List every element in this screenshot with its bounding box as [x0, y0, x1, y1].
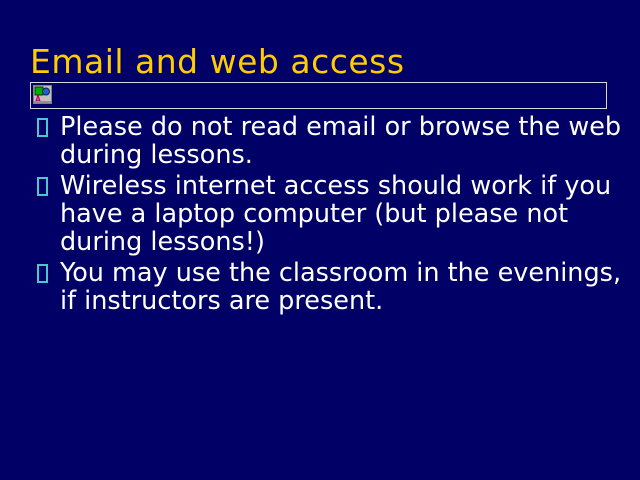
bullet-marker-icon	[37, 118, 48, 137]
list-item-label: You may use the classroom in the evening…	[60, 259, 630, 315]
list-item-label: Please do not read email or browse the w…	[60, 113, 630, 169]
presentation-slide: Email and web access Please do not read …	[0, 0, 640, 480]
list-item-label: Wireless internet access should work if …	[60, 172, 630, 256]
bullet-list: Please do not read email or browse the w…	[30, 113, 630, 318]
object-placeholder-box[interactable]	[30, 82, 607, 109]
page-title: Email and web access	[30, 44, 610, 80]
clip-art-object-icon[interactable]	[33, 85, 52, 104]
list-item: You may use the classroom in the evening…	[30, 259, 630, 315]
list-item: Wireless internet access should work if …	[30, 172, 630, 256]
list-item: Please do not read email or browse the w…	[30, 113, 630, 169]
bullet-marker-icon	[37, 264, 48, 283]
bullet-marker-icon	[37, 177, 48, 196]
